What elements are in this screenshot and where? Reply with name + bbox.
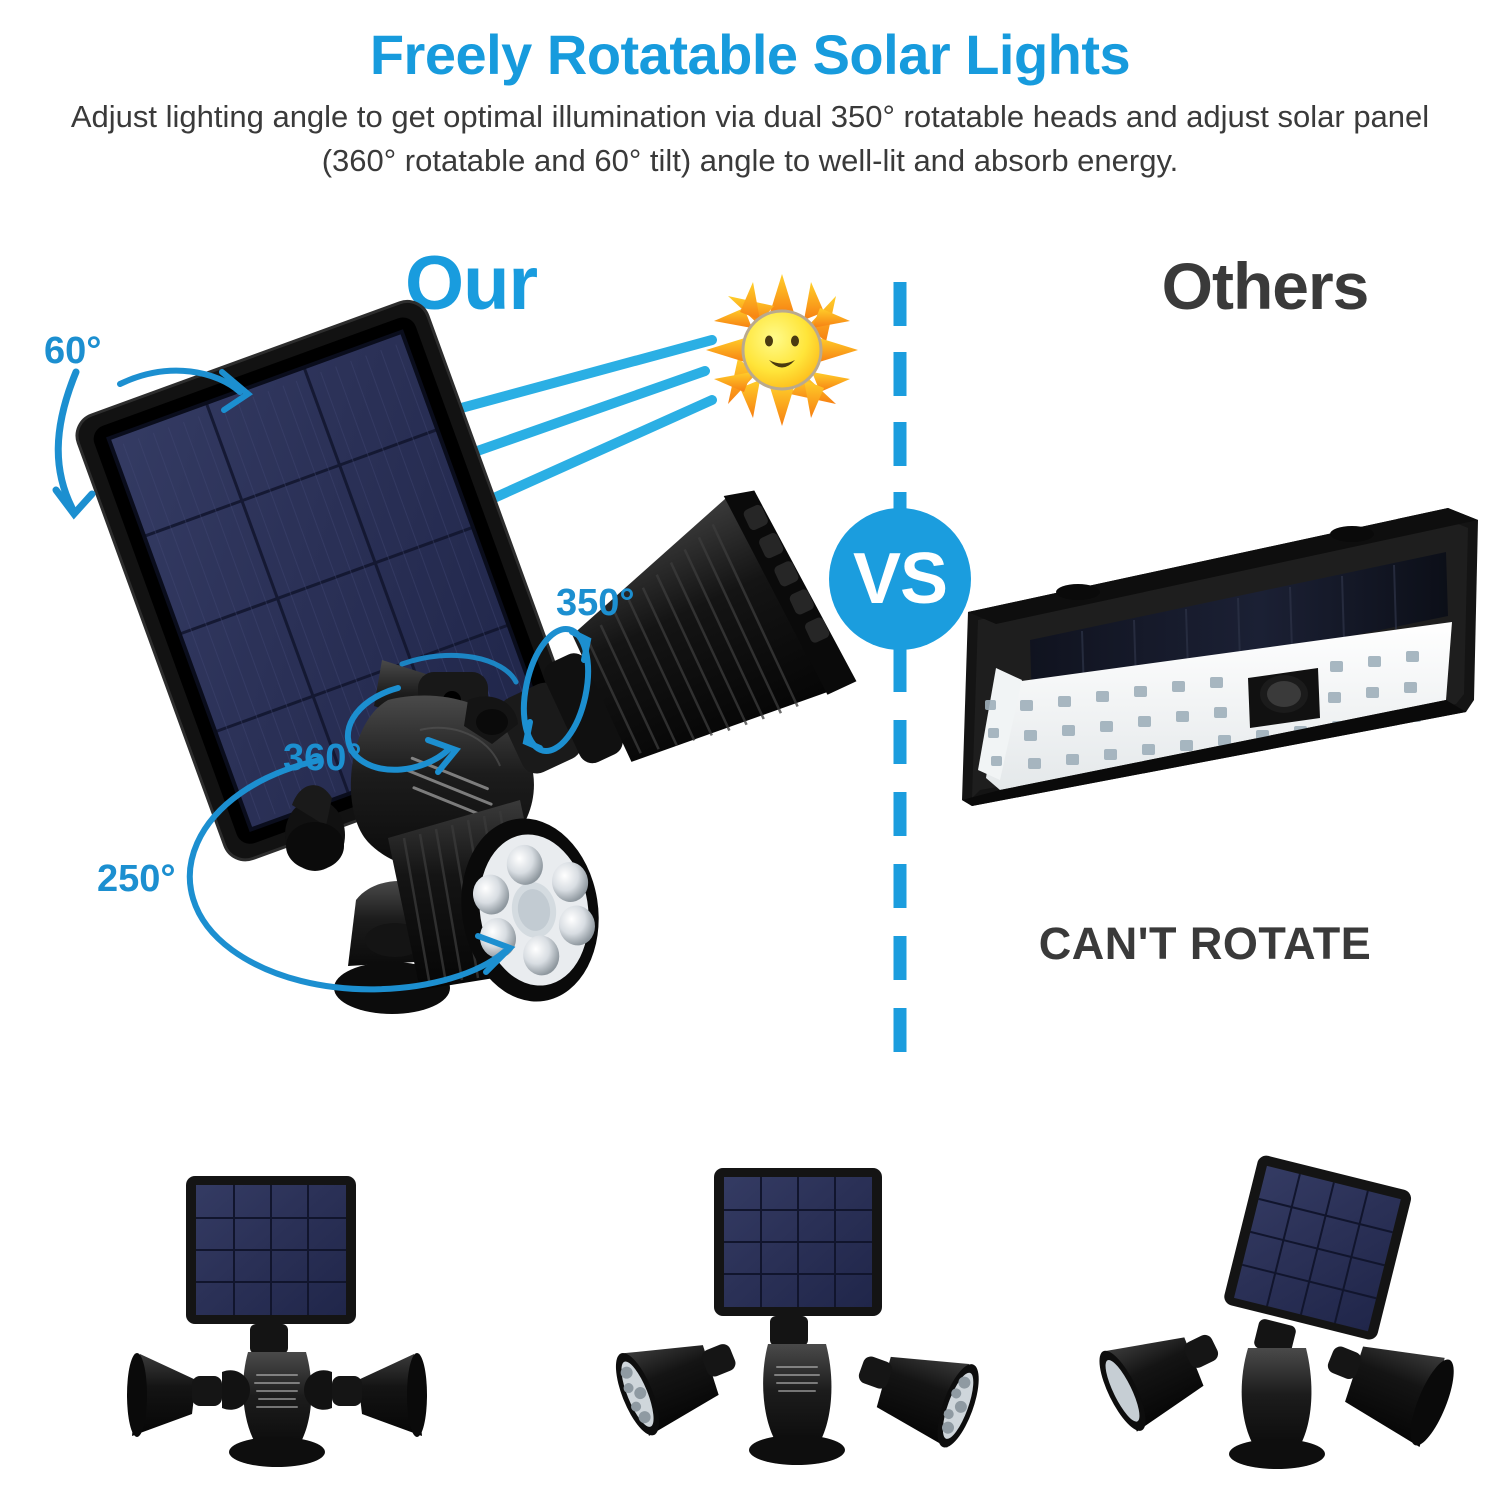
gallery1-head-right <box>304 1353 427 1437</box>
page-title: Freely Rotatable Solar Lights <box>0 26 1500 85</box>
gallery3-head-left <box>1091 1306 1235 1436</box>
arrow-60-tilt <box>56 371 248 514</box>
angle-label-head-swivel: 250° <box>97 858 176 901</box>
sun-smiley-icon <box>706 274 858 426</box>
gallery-item-1 <box>127 1176 427 1467</box>
gallery1-head-left <box>127 1353 250 1437</box>
gallery1-solar-panel <box>186 1176 356 1324</box>
swivel-knob-left <box>285 785 345 871</box>
gallery-item-2 <box>607 1168 987 1465</box>
vs-badge: VS <box>829 508 971 650</box>
gallery1-body-text <box>254 1374 300 1408</box>
gallery2-head-left <box>607 1315 749 1441</box>
illustration-canvas <box>0 0 1500 1500</box>
gallery3-solar-panel <box>1222 1154 1413 1342</box>
gallery-item-3 <box>1091 1154 1463 1469</box>
body-printed-text <box>407 756 493 817</box>
others-label: Others <box>1100 248 1430 324</box>
angle-label-tilt: 60° <box>44 330 101 373</box>
others-wall-light-product <box>962 508 1478 806</box>
pir-motion-sensor-icon <box>1248 668 1320 728</box>
mounting-base <box>334 881 450 1014</box>
led-array <box>466 836 601 985</box>
angle-label-panel-rotation: 360° <box>283 737 362 780</box>
header: Freely Rotatable Solar Lights Adjust lig… <box>0 0 1500 183</box>
arrow-250-swivel <box>190 760 510 989</box>
arrow-350-rotation <box>514 623 598 757</box>
gallery2-solar-panel <box>714 1168 882 1316</box>
our-label: Our <box>405 240 537 327</box>
gallery3-head-right <box>1312 1318 1462 1450</box>
gallery2-head-right <box>845 1329 987 1452</box>
our-solar-spotlight-product <box>71 295 857 1014</box>
spotlight-head-lower <box>388 696 612 1011</box>
page-subtitle: Adjust lighting angle to get optimal ill… <box>0 95 1500 183</box>
panel-mount-arm <box>374 660 488 736</box>
spotlight-head-upper <box>455 478 856 824</box>
arrow-360-rotation <box>348 655 516 772</box>
solar-panel <box>71 295 582 866</box>
angle-label-head-rotation: 350° <box>556 582 635 625</box>
gallery2-body-text <box>774 1366 820 1392</box>
sun-ray-lines <box>288 340 712 564</box>
cant-rotate-label: CAN'T ROTATE <box>955 918 1455 970</box>
